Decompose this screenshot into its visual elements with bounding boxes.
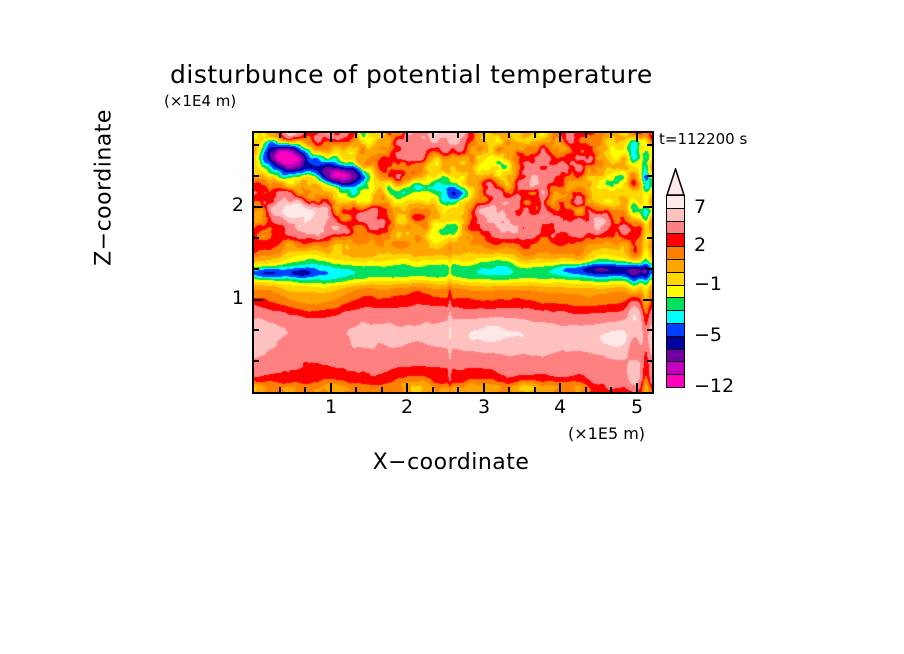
x-tick-minor-top — [381, 133, 383, 138]
page-title: disturbunce of potential temperature — [170, 60, 653, 89]
y-tick-minor — [254, 360, 259, 362]
x-tick-minor-top — [432, 133, 434, 138]
x-tick-label: 4 — [545, 396, 575, 418]
colorbar-tick-label: 7 — [694, 196, 706, 218]
y-axis-title: Z−coordinate — [92, 78, 117, 298]
x-tick-major — [559, 383, 561, 392]
x-tick-label: 3 — [469, 396, 499, 418]
y-tick-minor-right — [647, 237, 652, 239]
y-tick-minor — [254, 268, 259, 270]
x-tick-minor — [534, 387, 536, 392]
colorbar-tick-label: −5 — [694, 324, 722, 346]
y-tick-minor — [254, 175, 259, 177]
x-tick-major — [636, 383, 638, 392]
y-tick-minor-right — [647, 268, 652, 270]
y-tick-minor-right — [647, 360, 652, 362]
x-tick-major-top — [559, 133, 561, 142]
x-tick-minor-top — [279, 133, 281, 138]
colorbar-tick-label: 2 — [694, 234, 706, 256]
y-tick-minor-right — [647, 144, 652, 146]
x-axis-title: X−coordinate — [252, 450, 650, 475]
x-tick-minor — [508, 387, 510, 392]
y-tick-minor — [254, 237, 259, 239]
y-tick-minor-right — [647, 175, 652, 177]
x-tick-minor-top — [534, 133, 536, 138]
x-tick-major — [483, 383, 485, 392]
y-tick-minor — [254, 144, 259, 146]
x-tick-minor — [279, 387, 281, 392]
x-tick-minor — [585, 387, 587, 392]
x-tick-minor-top — [457, 133, 459, 138]
y-tick-label: 1 — [214, 287, 244, 309]
x-tick-minor — [381, 387, 383, 392]
x-tick-major-top — [636, 133, 638, 142]
y-tick-major — [254, 206, 263, 208]
x-tick-major-top — [406, 133, 408, 142]
y-tick-major — [254, 299, 263, 301]
x-tick-major — [330, 383, 332, 392]
colorbar-tick-label: −12 — [694, 375, 734, 397]
colorbar-arrow-icon — [666, 168, 685, 196]
x-tick-major — [406, 383, 408, 392]
title-units: (×1E4 m) — [164, 92, 236, 110]
x-axis-units: (×1E5 m) — [568, 424, 645, 443]
colorbar-swatch — [666, 374, 685, 388]
y-tick-major-right — [643, 206, 652, 208]
x-tick-major-top — [330, 133, 332, 142]
time-stamp-label: t=112200 s — [659, 130, 747, 148]
contour-plot-area — [252, 131, 654, 394]
x-tick-minor-top — [610, 133, 612, 138]
colorbar — [666, 195, 685, 387]
y-tick-major-right — [643, 299, 652, 301]
x-tick-minor-top — [304, 133, 306, 138]
x-tick-label: 2 — [392, 396, 422, 418]
x-tick-minor — [355, 387, 357, 392]
x-tick-minor — [304, 387, 306, 392]
x-tick-label: 5 — [622, 396, 652, 418]
x-tick-minor — [457, 387, 459, 392]
x-tick-major-top — [483, 133, 485, 142]
contour-field-canvas — [254, 133, 652, 392]
x-tick-minor-top — [508, 133, 510, 138]
y-tick-minor-right — [647, 329, 652, 331]
x-tick-minor-top — [585, 133, 587, 138]
colorbar-tick-label: −1 — [694, 273, 722, 295]
x-tick-minor — [432, 387, 434, 392]
y-tick-minor — [254, 329, 259, 331]
y-tick-label: 2 — [214, 194, 244, 216]
x-tick-minor — [610, 387, 612, 392]
x-tick-label: 1 — [316, 396, 346, 418]
x-tick-minor-top — [355, 133, 357, 138]
